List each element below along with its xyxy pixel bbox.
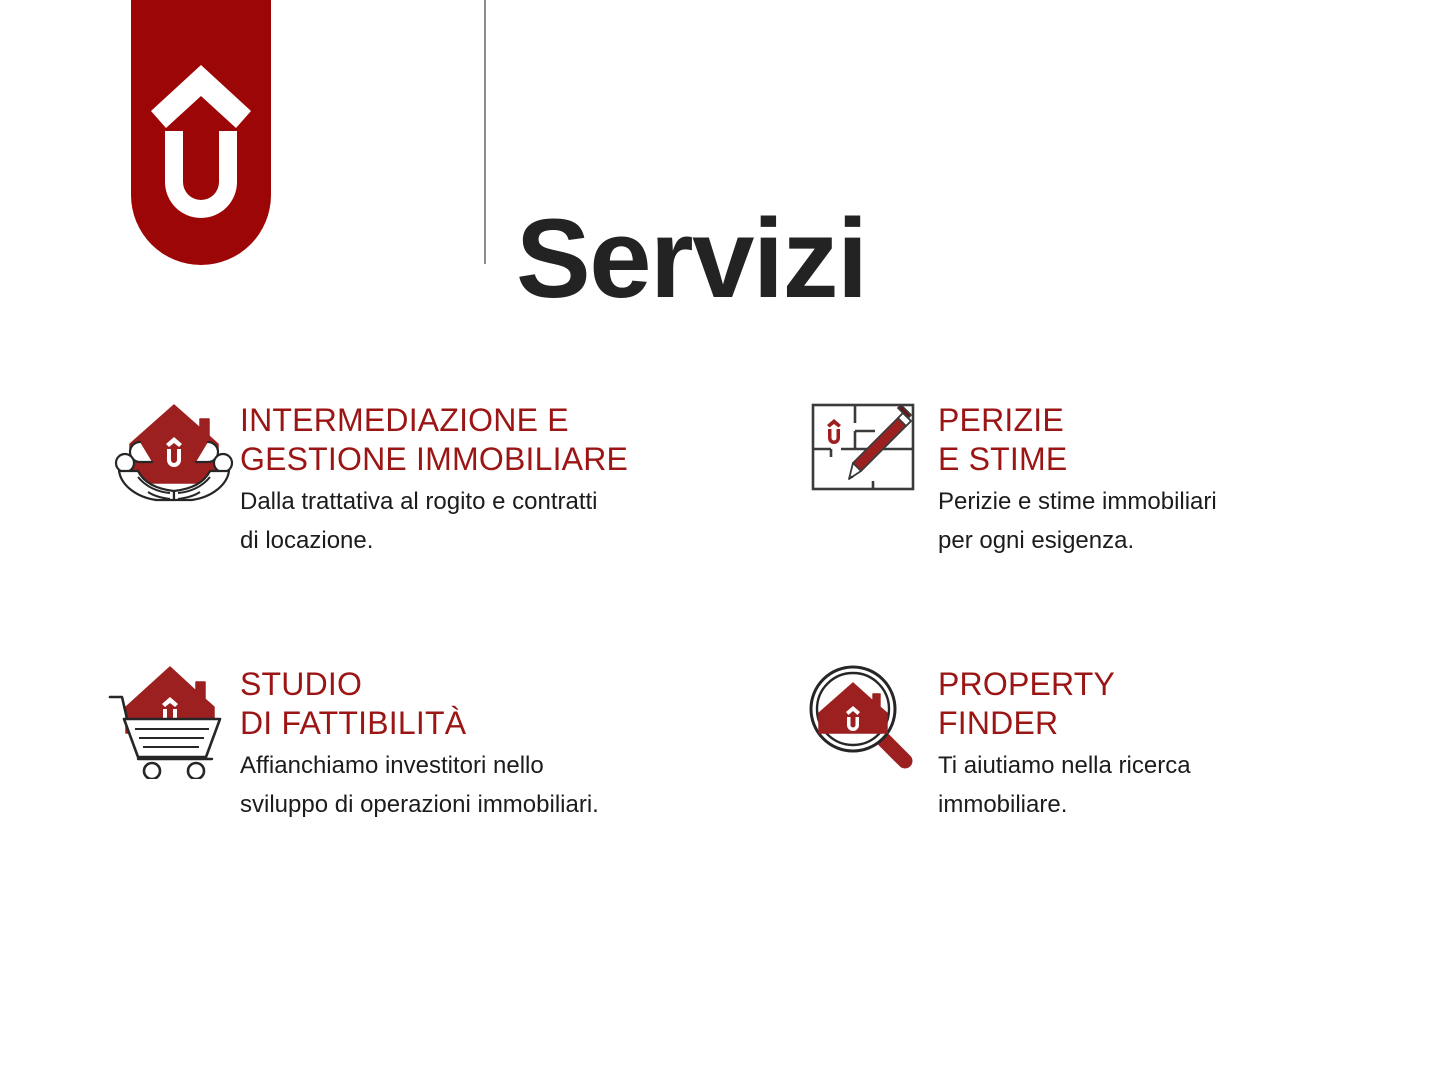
services-row-1: INTERMEDIAZIONE E GESTIONE IMMOBILIARE D… <box>0 393 1440 657</box>
services-grid: INTERMEDIAZIONE E GESTIONE IMMOBILIARE D… <box>0 393 1440 921</box>
u-house-logo-badge <box>131 0 271 265</box>
service-item-property-finder[interactable]: PROPERTY FINDER Ti aiutiamo nella ricerc… <box>788 657 1348 825</box>
service-description: Dalla trattativa al rogito e contratti d… <box>240 483 728 561</box>
floor-plan-pencil-icon <box>788 393 938 511</box>
service-title: PROPERTY FINDER <box>938 665 1348 743</box>
page-title: Servizi <box>516 203 867 315</box>
magnifier-house-icon <box>788 657 938 775</box>
service-text-block: PERIZIE E STIME Perizie e stime immobili… <box>938 393 1348 561</box>
service-text-block: INTERMEDIAZIONE E GESTIONE IMMOBILIARE D… <box>240 393 728 561</box>
service-text-block: PROPERTY FINDER Ti aiutiamo nella ricerc… <box>938 657 1348 825</box>
service-item-perizie-e-stime[interactable]: PERIZIE E STIME Perizie e stime immobili… <box>788 393 1348 561</box>
service-item-studio-di-fattibilita[interactable]: STUDIO DI FATTIBILITÀ Affianchiamo inves… <box>108 657 728 825</box>
services-row-2: STUDIO DI FATTIBILITÀ Affianchiamo inves… <box>0 657 1440 921</box>
service-description: Perizie e stime immobiliari per ogni esi… <box>938 483 1348 561</box>
service-item-intermediazione[interactable]: INTERMEDIAZIONE E GESTIONE IMMOBILIARE D… <box>108 393 728 561</box>
service-description: Affianchiamo investitori nello sviluppo … <box>240 747 728 825</box>
service-text-block: STUDIO DI FATTIBILITÀ Affianchiamo inves… <box>240 657 728 825</box>
shopping-cart-house-icon <box>108 657 240 775</box>
service-description: Ti aiutiamo nella ricerca immobiliare. <box>938 747 1348 825</box>
service-title: PERIZIE E STIME <box>938 401 1348 479</box>
slide-servizi: Servizi <box>0 0 1440 1080</box>
header-divider <box>484 0 486 264</box>
service-title: INTERMEDIAZIONE E GESTIONE IMMOBILIARE <box>240 401 728 479</box>
hands-holding-house-icon <box>108 393 240 511</box>
service-title: STUDIO DI FATTIBILITÀ <box>240 665 728 743</box>
